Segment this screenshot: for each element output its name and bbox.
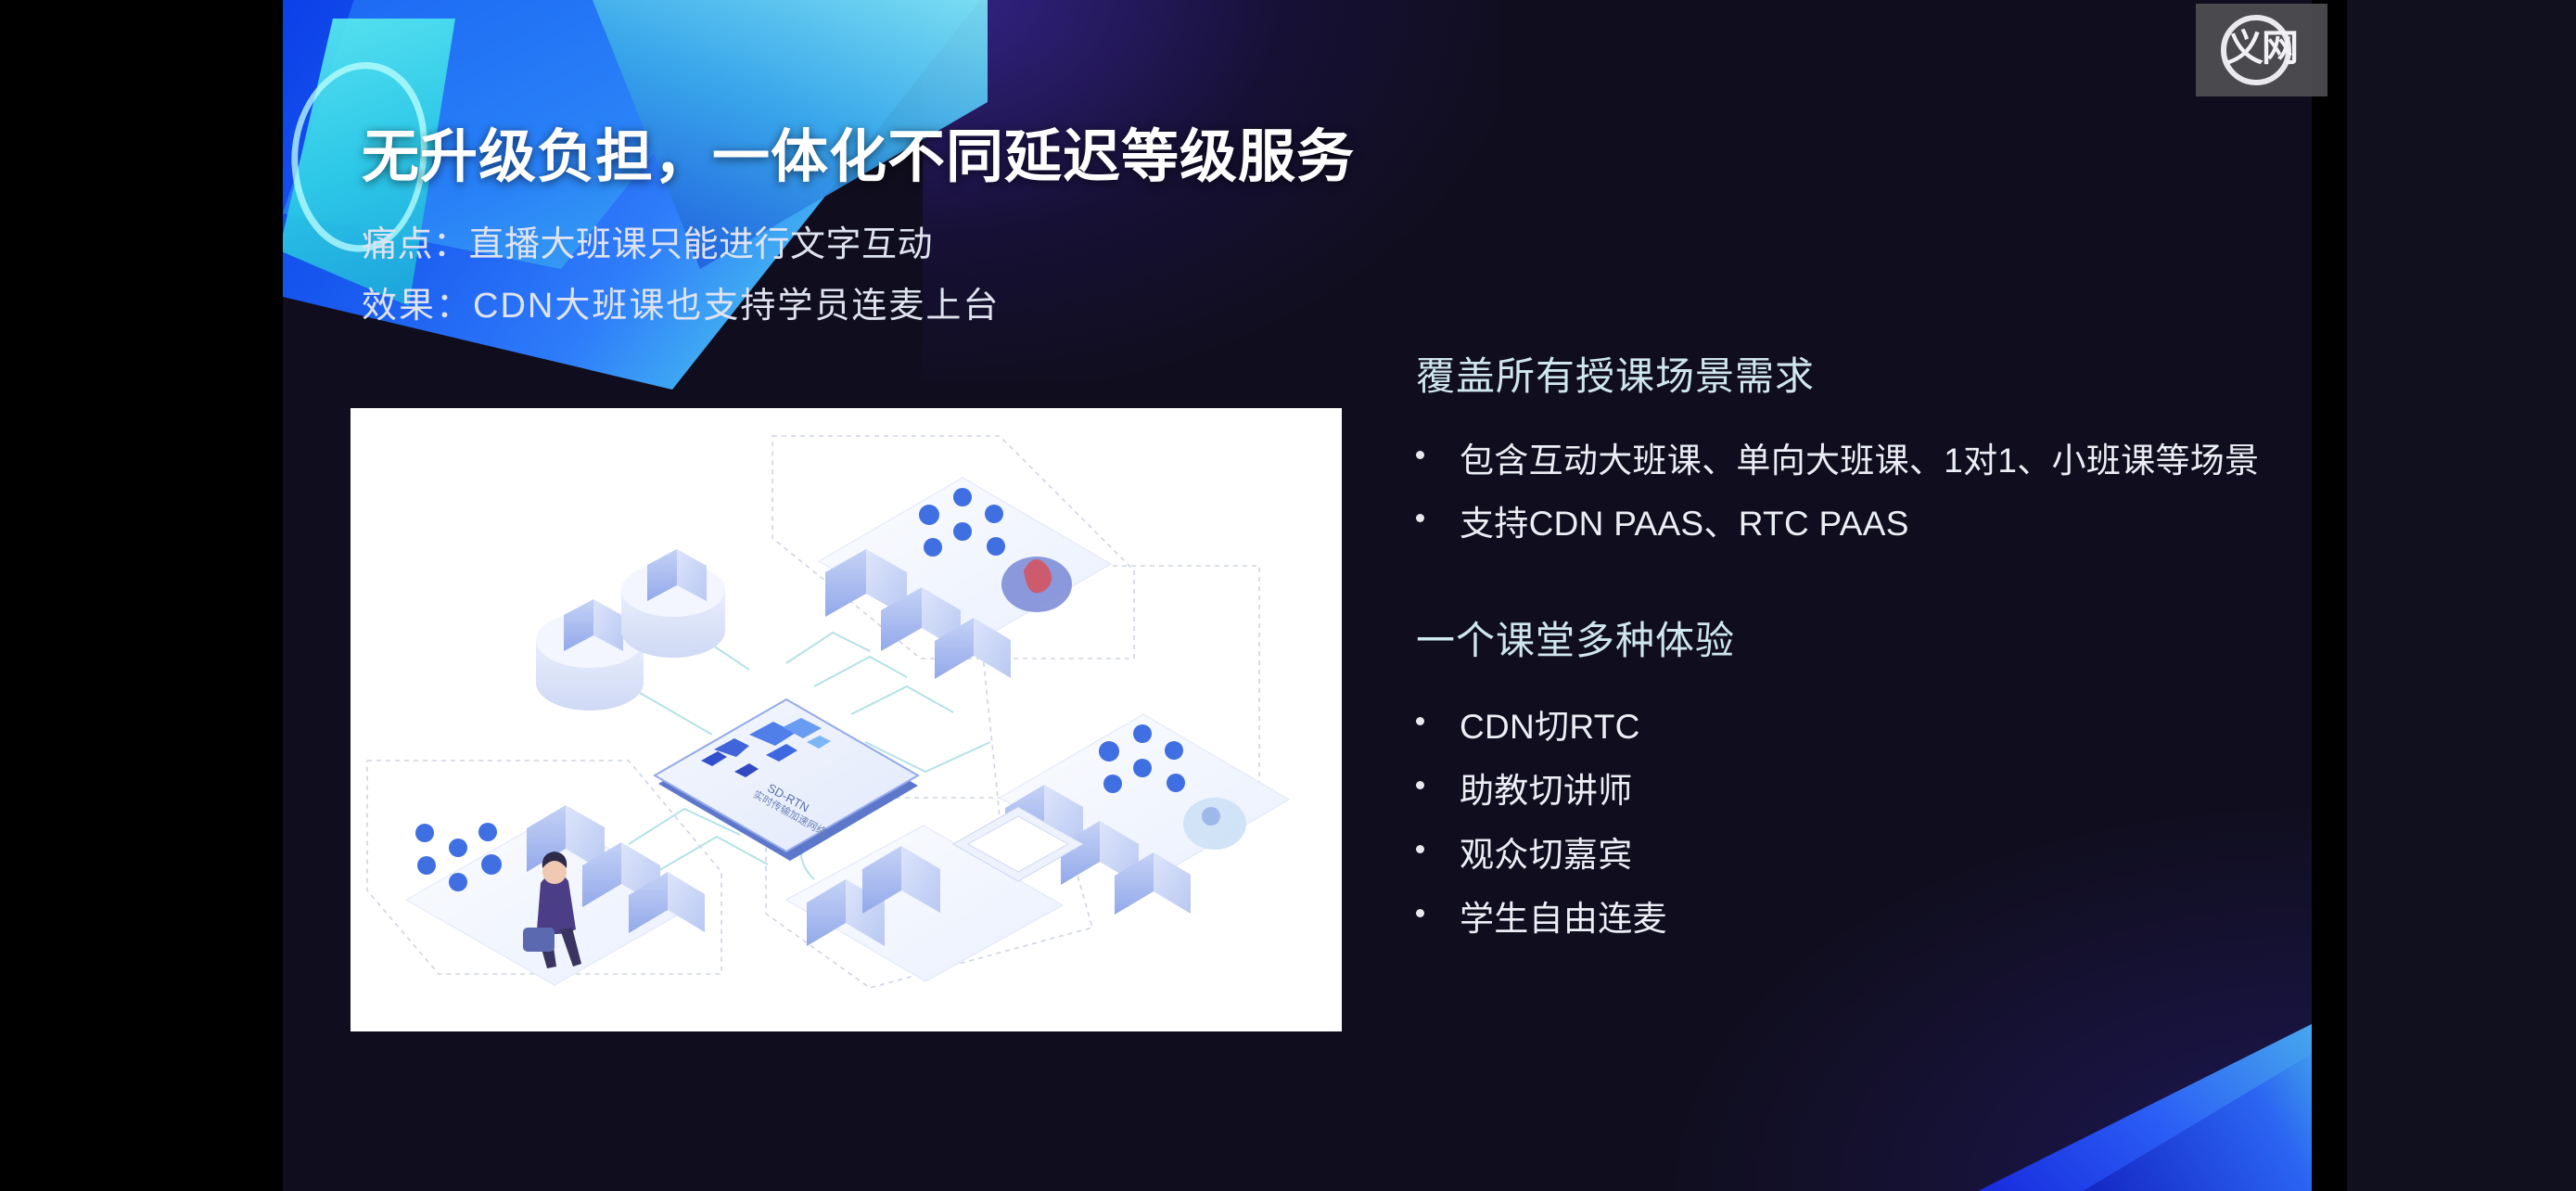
bullet-text: 助教切讲师 bbox=[1460, 762, 1633, 813]
section-heading-experience: 一个课堂多种体验 bbox=[1416, 609, 1735, 666]
architecture-diagram-panel: SD-RTN 实时传输加速网络 bbox=[351, 408, 1342, 1031]
top-left-shape-decoration bbox=[283, 0, 988, 390]
letterbox-left-gap bbox=[230, 0, 283, 1191]
bullet-dot-icon bbox=[1416, 514, 1424, 522]
architecture-diagram-svg: SD-RTN 实时传输加速网络 bbox=[351, 408, 1342, 1031]
bullet-dot-icon bbox=[1416, 909, 1424, 917]
screenshot-root: 无升级负担，一体化不同延迟等级服务 痛点：直播大班课只能进行文字互动 效果：CD… bbox=[0, 0, 2576, 1191]
watermark-logo-icon: 义网 bbox=[2215, 10, 2308, 90]
bottom-right-shape-decoration-2 bbox=[2052, 1015, 2312, 1191]
bullet-text: 支持CDN PAAS、RTC PAAS bbox=[1460, 495, 1909, 545]
letterbox-right bbox=[2347, 0, 2576, 1191]
section-heading-coverage: 覆盖所有授课场景需求 bbox=[1416, 345, 1815, 402]
bullet-dot-icon bbox=[1416, 845, 1424, 853]
letterbox-left bbox=[0, 0, 230, 1191]
presentation-slide: 无升级负担，一体化不同延迟等级服务 痛点：直播大班课只能进行文字互动 效果：CD… bbox=[283, 0, 2312, 1191]
slide-subtitle-painpoint: 痛点：直播大班课只能进行文字互动 bbox=[362, 215, 933, 266]
bullet-item: 学生自由连麦 bbox=[1416, 890, 1667, 941]
bullet-dot-icon bbox=[1416, 781, 1424, 789]
watermark-badge: 义网 bbox=[2196, 4, 2327, 96]
bullet-item: 观众切嘉宾 bbox=[1416, 826, 1633, 877]
slide-title: 无升级负担，一体化不同延迟等级服务 bbox=[362, 109, 1355, 193]
letterbox-right-gap bbox=[2312, 0, 2347, 1191]
bottom-right-shape-decoration bbox=[1941, 931, 2312, 1191]
bullet-text: 学生自由连麦 bbox=[1460, 890, 1667, 941]
bullet-dot-icon bbox=[1416, 717, 1424, 725]
bullet-text: 观众切嘉宾 bbox=[1460, 826, 1633, 877]
slide-subtitle-effect: 效果：CDN大班课也支持学员连麦上台 bbox=[362, 276, 1000, 327]
bullet-text: 包含互动大班课、单向大班课、1对1、小班课等场景 bbox=[1460, 432, 2259, 482]
bullet-item: 包含互动大班课、单向大班课、1对1、小班课等场景 bbox=[1416, 432, 2259, 482]
bullet-text: CDN切RTC bbox=[1460, 698, 1640, 749]
bullet-dot-icon bbox=[1416, 451, 1424, 459]
bottom-right-glow-decoration bbox=[1663, 801, 2312, 1191]
watermark-text: 义网 bbox=[2215, 27, 2308, 70]
bullet-item: CDN切RTC bbox=[1416, 698, 1640, 749]
bullet-item: 支持CDN PAAS、RTC PAAS bbox=[1416, 495, 1909, 545]
bullet-item: 助教切讲师 bbox=[1416, 762, 1633, 813]
